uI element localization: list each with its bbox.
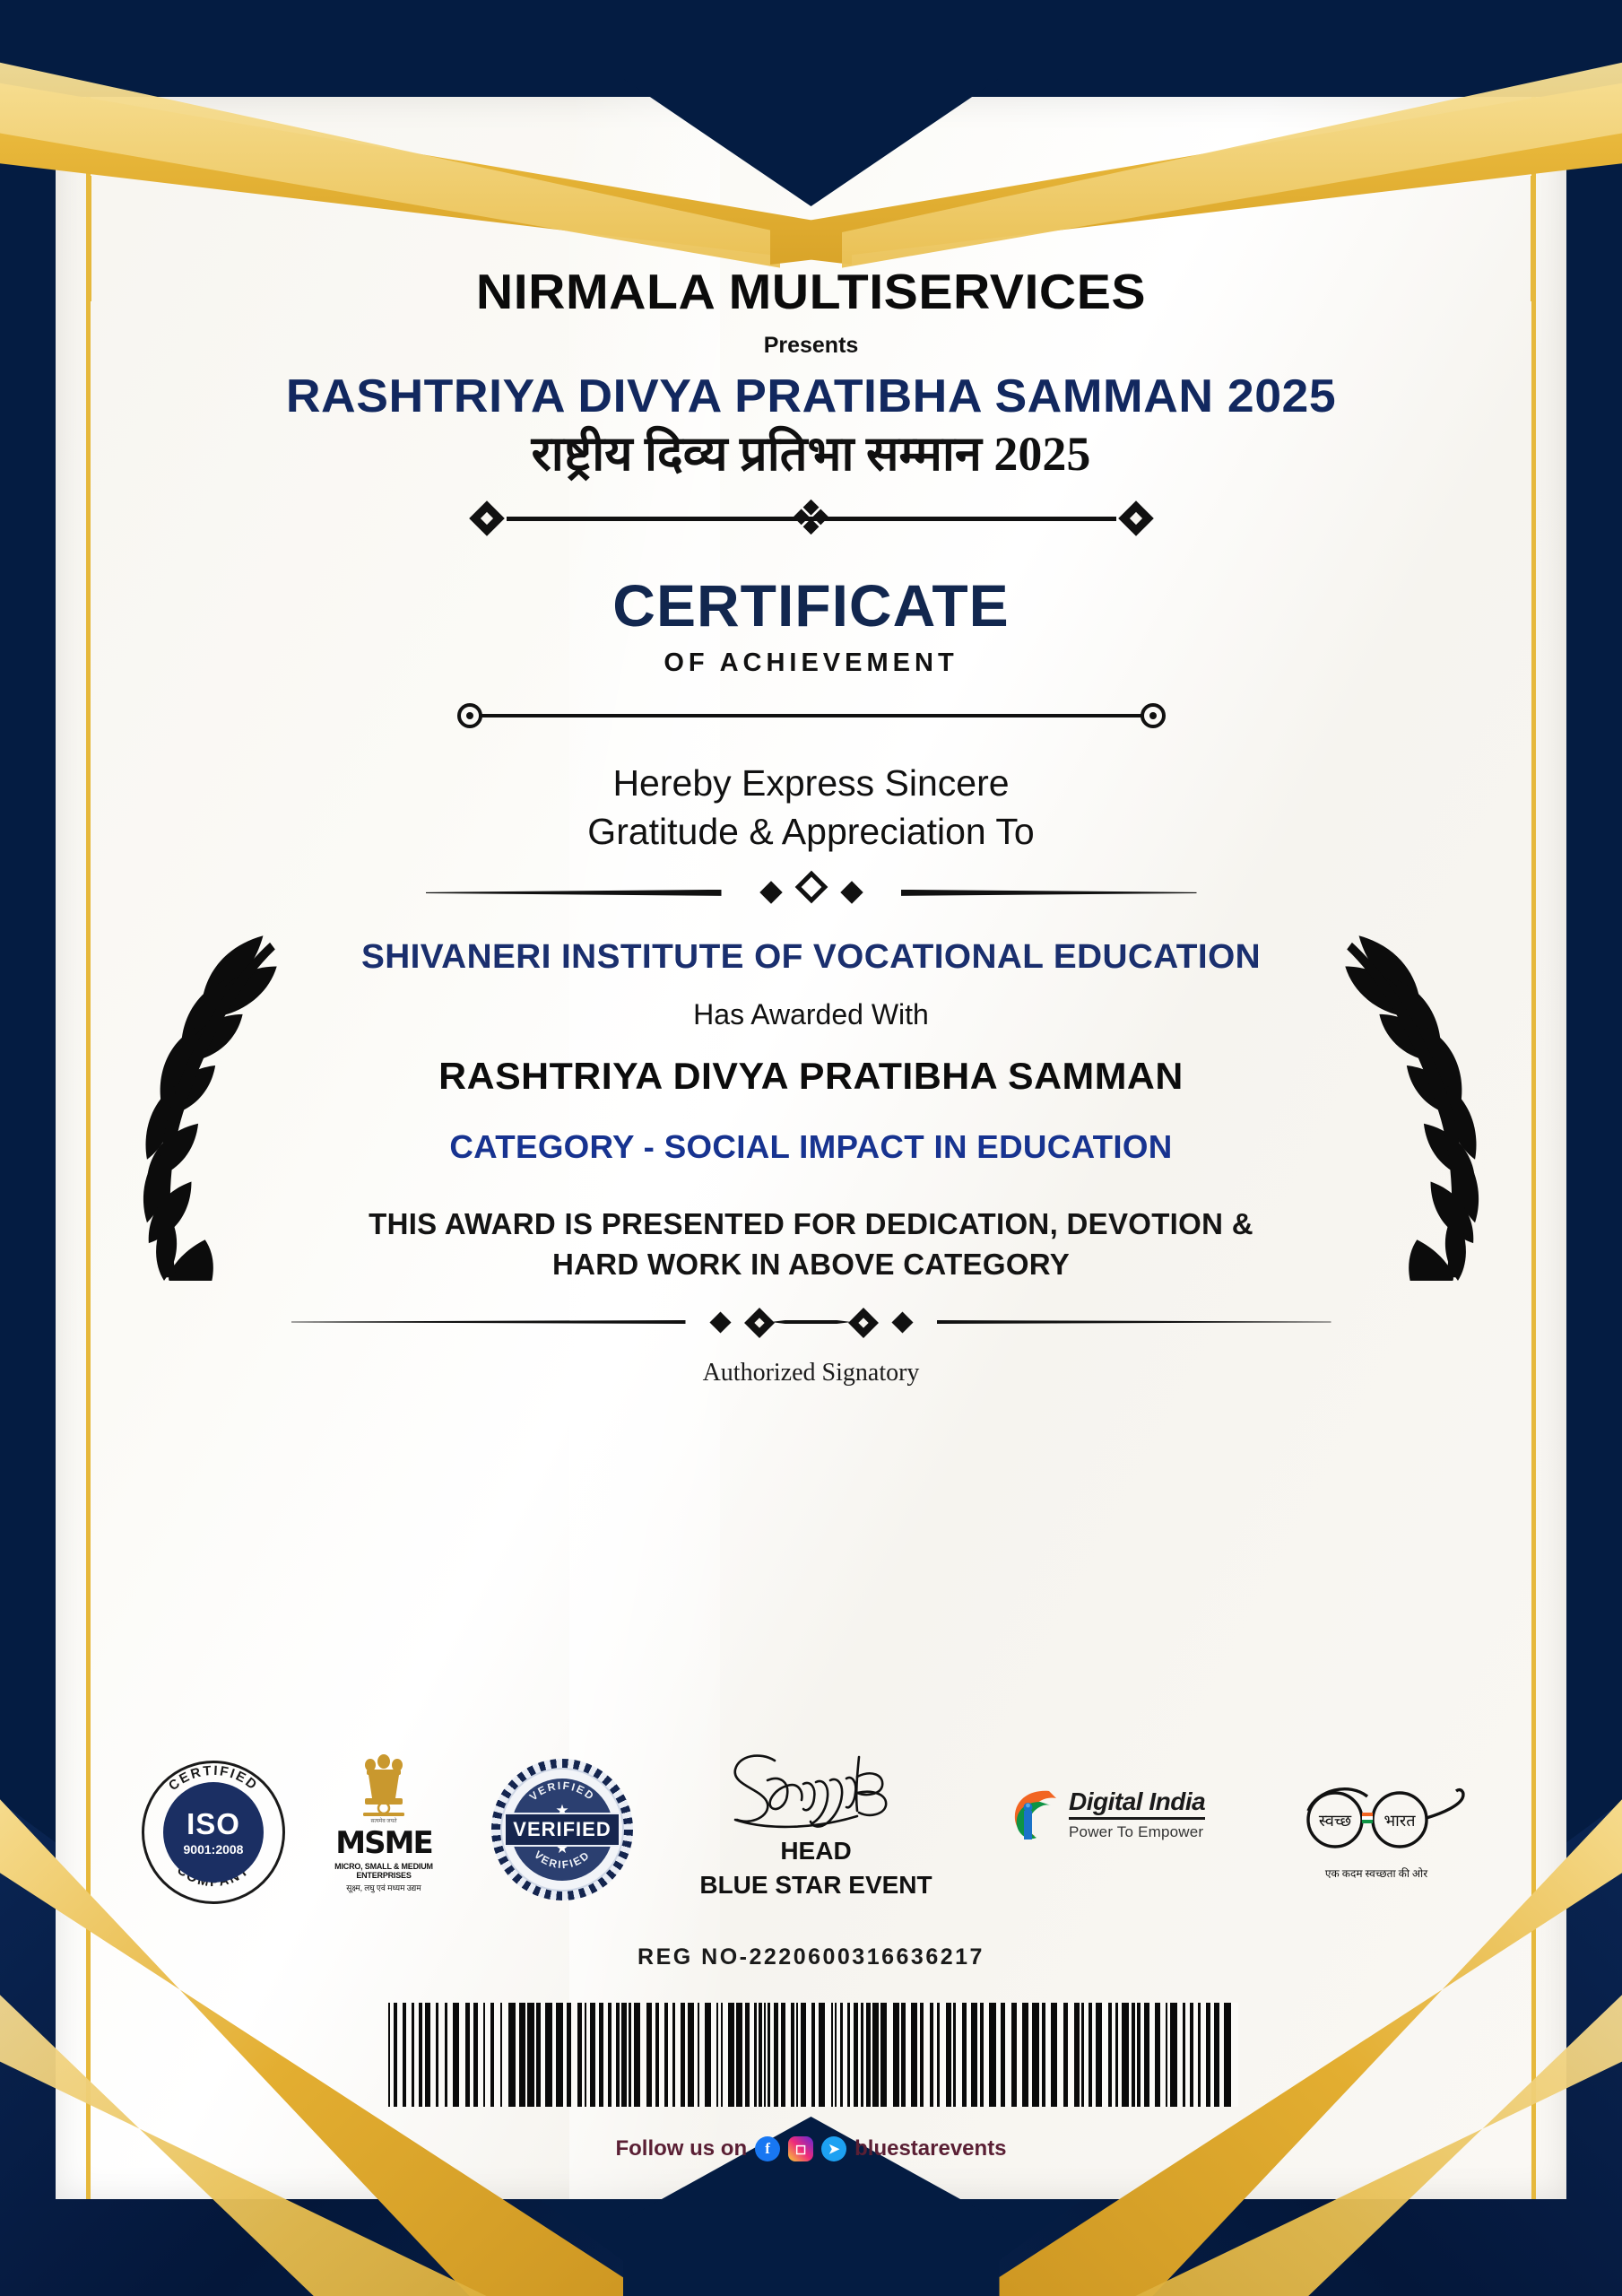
- svg-text:VERIFIED: VERIFIED: [527, 1779, 597, 1804]
- signature-title: HEAD: [681, 1837, 950, 1865]
- handwritten-signature-icon: [681, 1744, 950, 1831]
- verified-badge: VERIFIED VERIFIED ★ ★ VERIFIED: [491, 1759, 633, 1900]
- divider-diamond-right: [1118, 500, 1154, 536]
- divider-hollow-diamond: [794, 871, 828, 904]
- divider-line: [481, 714, 1142, 717]
- msme-subtitle-en: MICRO, SMALL & MEDIUM ENTERPRISES: [312, 1862, 455, 1880]
- divider-eye-a: [744, 1308, 775, 1338]
- divider-line-right: [937, 1320, 1331, 1324]
- divider-circle-left: [457, 703, 482, 728]
- social-handle: bluestarevents: [854, 2136, 1006, 2161]
- certificate-content: NIRMALA MULTISERVICES Presents RASHTRIYA…: [0, 0, 1622, 1387]
- swachh-right-lens-label: भारत: [1384, 1812, 1417, 1830]
- msme-logo: सत्यमेव जयते MSME MICRO, SMALL & MEDIUM …: [312, 1753, 455, 1915]
- recipient-name: SHIVANERI INSTITUTE OF VOCATIONAL EDUCAT…: [0, 938, 1622, 977]
- divider-diamond-left: [469, 500, 505, 536]
- gratitude-text: Hereby Express Sincere Gratitude & Appre…: [0, 759, 1622, 856]
- divider-spear-right: [901, 890, 1197, 896]
- verified-inner-disc: VERIFIED VERIFIED ★ ★ VERIFIED: [511, 1779, 613, 1881]
- ashoka-emblem-icon: सत्यमेव जयते: [356, 1753, 412, 1823]
- iso-label: ISO: [186, 1809, 240, 1839]
- divider-bar-ornament: ❖: [471, 500, 1152, 537]
- digital-india-tagline: Power To Empower: [1069, 1823, 1205, 1841]
- swachh-bharat-glasses-icon: स्वच्छ भारत: [1278, 1773, 1475, 1859]
- divider-diamond-b: [840, 881, 863, 903]
- page-title: CERTIFICATE: [0, 571, 1622, 639]
- iso-inner-disc: ISO 9001:2008: [163, 1782, 264, 1883]
- divider-long-ornament: [291, 1309, 1331, 1335]
- gratitude-line-1: Hereby Express Sincere: [0, 759, 1622, 807]
- msme-wordmark: MSME: [312, 1828, 455, 1858]
- divider-circle-right: [1141, 703, 1166, 728]
- facebook-icon[interactable]: f: [755, 2136, 780, 2161]
- authorized-signatory-label: Authorized Signatory: [0, 1359, 1622, 1387]
- signature-organization: BLUE STAR EVENT: [681, 1871, 950, 1900]
- certificate-document: NIRMALA MULTISERVICES Presents RASHTRIYA…: [0, 0, 1622, 2296]
- twitter-icon[interactable]: ➤: [821, 2136, 846, 2161]
- svg-text:सत्यमेव जयते: सत्यमेव जयते: [370, 1817, 397, 1823]
- msme-subtitle-hi: सूक्ष्म, लघु एवं मध्यम उद्यम: [312, 1882, 455, 1893]
- divider-diamond-a: [759, 881, 782, 903]
- divider-eye-b: [848, 1308, 879, 1338]
- gratitude-line-2: Gratitude & Appreciation To: [0, 807, 1622, 856]
- divider-spear-left: [426, 890, 722, 896]
- instagram-icon[interactable]: ◻: [788, 2136, 813, 2161]
- divider-spear-ornament: [426, 877, 1197, 908]
- digital-india-mark-icon: [1004, 1784, 1060, 1847]
- divider-center-bar: [771, 1320, 852, 1324]
- divider-dot-b: [891, 1311, 913, 1333]
- iso-certified-badge: CERTIFIED COMPANY ISO 9001:2008: [142, 1761, 285, 1904]
- signature-block: HEAD BLUE STAR EVENT: [681, 1744, 950, 1900]
- award-name: RASHTRIYA DIVYA PRATIBHA SAMMAN: [0, 1055, 1622, 1098]
- digital-india-text: Digital India Power To Empower: [1069, 1789, 1205, 1841]
- divider-scroll-ornament: [457, 698, 1166, 728]
- divider-dot-a: [709, 1311, 731, 1333]
- organization-name: NIRMALA MULTISERVICES: [0, 263, 1622, 320]
- award-category: CATEGORY - SOCIAL IMPACT IN EDUCATION: [0, 1128, 1622, 1166]
- digital-india-logo: Digital India Power To Empower: [1004, 1784, 1228, 1847]
- barcode: [385, 2003, 1238, 2107]
- certificate-subtitle: OF ACHIEVEMENT: [0, 648, 1622, 678]
- verified-top-arc-label: VERIFIED: [527, 1779, 597, 1804]
- award-block: SHIVANERI INSTITUTE OF VOCATIONAL EDUCAT…: [0, 938, 1622, 1166]
- swachh-bharat-logo: स्वच्छ भारत एक कदम स्वच्छता की ओर: [1273, 1773, 1479, 1881]
- presents-label: Presents: [0, 333, 1622, 359]
- follow-label: Follow us on: [615, 2136, 747, 2161]
- digital-india-title: Digital India: [1069, 1789, 1205, 1820]
- swachh-bharat-caption: एक कदम स्वच्छता की ओर: [1273, 1865, 1479, 1881]
- iso-standard: 9001:2008: [184, 1842, 244, 1857]
- divider-line-left: [291, 1320, 686, 1324]
- divider-flourish-icon: ❖: [789, 494, 832, 543]
- footer-follow-us: Follow us on f ◻ ➤ bluestarevents: [0, 2136, 1622, 2161]
- registration-number: REG NO-2220600316636217: [0, 1944, 1622, 1970]
- award-title-english: RASHTRIYA DIVYA PRATIBHA SAMMAN 2025: [0, 370, 1622, 423]
- award-title-hindi: राष्ट्रीय दिव्य प्रतिभा सम्मान 2025: [0, 429, 1622, 480]
- swachh-left-lens-label: स्वच्छ: [1319, 1812, 1352, 1830]
- verified-band-label: VERIFIED: [506, 1813, 619, 1847]
